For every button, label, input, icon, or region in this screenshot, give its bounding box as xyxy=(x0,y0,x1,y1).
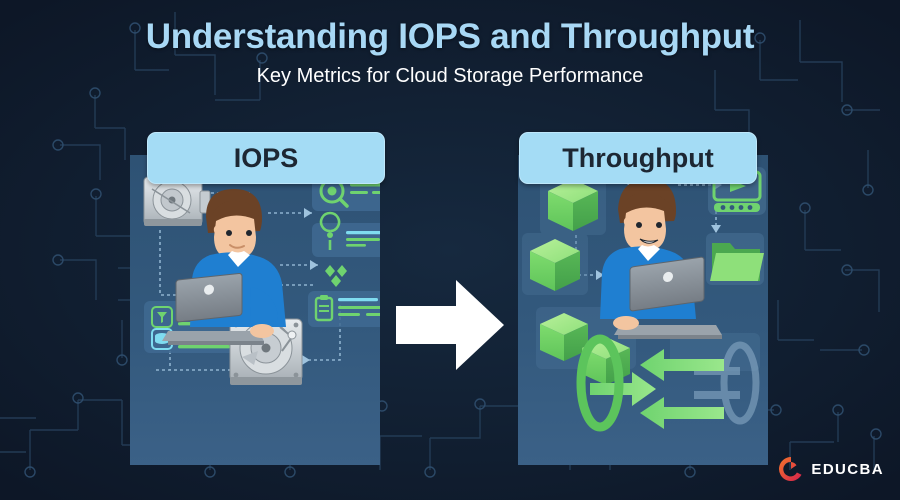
clipboard-card-icon xyxy=(308,291,380,327)
panel-throughput xyxy=(518,155,768,465)
infographic-canvas: Understanding IOPS and Throughput Key Me… xyxy=(0,0,900,500)
banner-throughput-label: Throughput xyxy=(562,143,713,174)
flow-arrow-icon xyxy=(640,397,724,429)
page-subtitle: Key Metrics for Cloud Storage Performanc… xyxy=(0,65,900,88)
iops-illustration xyxy=(130,155,380,465)
banner-throughput: Throughput xyxy=(519,132,757,184)
header: Understanding IOPS and Throughput Key Me… xyxy=(0,0,900,88)
banner-iops: IOPS xyxy=(147,132,385,184)
educba-logo[interactable]: EDUCBA xyxy=(778,456,884,482)
hard-disk-drive-icon xyxy=(144,177,210,226)
folder-icon xyxy=(706,233,764,285)
person-icon xyxy=(618,179,676,251)
person-icon xyxy=(206,189,262,259)
banner-iops-label: IOPS xyxy=(234,143,299,174)
cluster-dots-icon xyxy=(325,265,347,287)
throughput-illustration xyxy=(518,155,768,465)
location-pin-card-icon xyxy=(312,213,380,257)
educba-e-mark-icon xyxy=(778,456,804,482)
right-arrow-icon xyxy=(392,272,508,378)
educba-logo-text: EDUCBA xyxy=(811,461,884,478)
panel-iops xyxy=(130,155,380,465)
laptop-icon xyxy=(600,245,722,339)
page-title: Understanding IOPS and Throughput xyxy=(0,17,900,57)
